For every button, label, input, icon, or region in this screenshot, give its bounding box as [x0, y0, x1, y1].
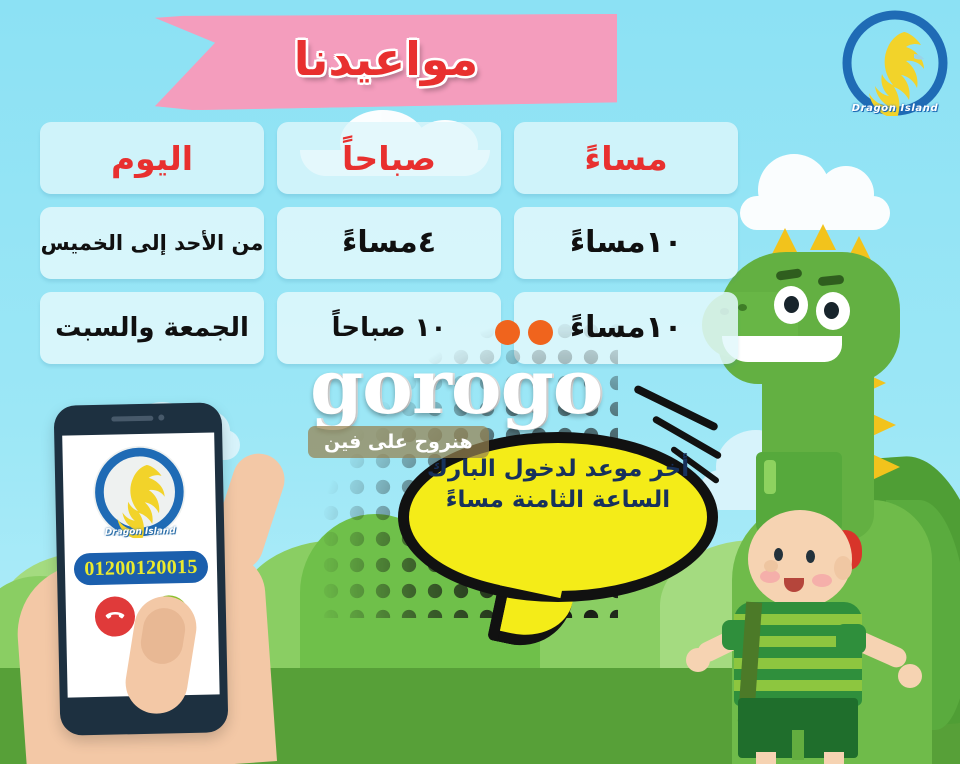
phone-brand-logo: Dragon Island	[92, 445, 186, 539]
boy-hat-highlight	[764, 460, 776, 494]
boy-nose	[764, 560, 778, 572]
table-header-row: مساءً صباحاً اليوم	[40, 122, 738, 194]
table-row: ١٠مساءً ٤مساءً من الأحد إلى الخميس	[40, 207, 738, 279]
dragon-head-icon	[842, 10, 948, 116]
cell-value: ٤مساءً	[342, 228, 436, 258]
boy-shorts-gap	[792, 730, 804, 760]
phone-earpiece	[111, 415, 153, 421]
boy-cheek	[812, 574, 832, 587]
boy-leg	[756, 752, 776, 764]
cell-evening: ١٠مساءً	[514, 207, 738, 279]
cell-value: الجمعة والسبت	[55, 315, 249, 341]
table-header-morning: صباحاً	[277, 122, 501, 194]
cell-morning: ٤مساءً	[277, 207, 501, 279]
cell-value: ١٠مساءً	[570, 228, 682, 258]
watermark-tagline: هنروح على فين	[308, 426, 489, 458]
cell-day: من الأحد إلى الخميس	[40, 207, 264, 279]
boy-hand	[898, 664, 922, 688]
boy-character	[712, 452, 902, 764]
dragon-pupil	[824, 302, 839, 319]
header-label: اليوم	[111, 142, 193, 175]
dragon-head-icon	[92, 445, 186, 539]
dragon-spike-icon	[810, 224, 836, 250]
cell-value: من الأحد إلى الخميس	[41, 233, 264, 254]
table-header-evening: مساءً	[514, 122, 738, 194]
phone-brand-name: Dragon Island	[94, 526, 186, 538]
watermark-wordmark: gorogo	[310, 342, 602, 431]
phone-speaker	[111, 414, 164, 421]
page-title: مواعيدنا	[155, 14, 617, 110]
boy-hand	[686, 648, 710, 672]
bubble-line-2: الساعة الثامنة مساءً	[446, 485, 670, 516]
dragon-and-boy-illustration	[700, 200, 960, 764]
boy-eye	[774, 548, 783, 561]
dragon-nostril	[738, 304, 747, 311]
brand-name: Dragon Island	[842, 103, 948, 114]
title-ribbon: مواعيدنا	[155, 14, 617, 110]
phone-number-text: 01200120015	[84, 555, 198, 580]
cell-day: الجمعة والسبت	[40, 292, 264, 364]
dragon-spike-icon	[772, 228, 798, 254]
dragon-pupil	[784, 296, 799, 313]
boy-leg	[824, 752, 844, 764]
poster-canvas: مواعيدنا Dragon Island	[0, 0, 960, 764]
bubble-line-1: أخر موعد لدخول البارك	[427, 454, 689, 485]
boy-eye	[806, 550, 815, 563]
brand-logo: Dragon Island	[842, 10, 948, 116]
phone-camera-icon	[158, 414, 164, 420]
watermark: gorogo هنروح على فين	[300, 332, 650, 452]
dragon-smile	[722, 336, 842, 362]
decline-call-button[interactable]	[95, 596, 136, 637]
header-label: مساءً	[584, 142, 667, 175]
boy-sleeve	[836, 624, 866, 654]
header-label: صباحاً	[342, 142, 436, 175]
table-header-day: اليوم	[40, 122, 264, 194]
phone-number-field[interactable]: 01200120015	[74, 551, 209, 586]
phone-hangup-icon	[104, 605, 126, 627]
boy-ear	[834, 556, 852, 580]
